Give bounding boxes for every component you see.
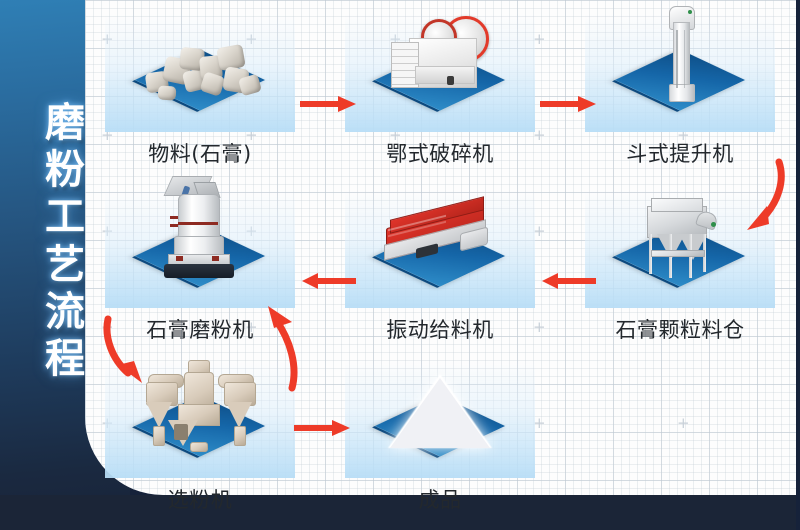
rock-pile-icon — [105, 14, 295, 132]
banner-char-6: 程 — [45, 336, 85, 383]
jaw-crusher-icon — [345, 14, 535, 132]
bucket-elevator-icon — [585, 14, 775, 132]
arrow-powder-classifier-to-finished-product — [292, 412, 354, 444]
grid-cross-mark: + — [677, 416, 690, 431]
flow-diagram-stage: 磨 粉 工 艺 流 程 + + + + + + + + + + + + + + … — [0, 0, 800, 530]
flow-node-label: 物料(石膏) — [105, 138, 295, 168]
flow-node-label: 石膏颗粒料仓 — [585, 314, 775, 344]
flow-node-jaw-crusher[interactable]: 鄂式破碎机 — [345, 14, 535, 168]
arrow-gypsum-silo-to-vibrating-feeder — [538, 265, 600, 297]
flow-node-raw-material[interactable]: 物料(石膏) — [105, 14, 295, 168]
flow-node-bucket-elevator[interactable]: 斗式提升机 — [585, 14, 775, 168]
flow-node-label: 鄂式破碎机 — [345, 138, 535, 168]
grinding-mill-icon — [105, 190, 295, 308]
flow-node-label: 选粉机 — [105, 484, 295, 514]
banner-char-5: 流 — [45, 289, 85, 336]
arrow-jaw-crusher-to-bucket-elevator — [538, 88, 600, 120]
arrow-powder-classifier-to-gypsum-mill — [262, 302, 314, 392]
arrow-vibrating-feeder-to-gypsum-mill — [298, 265, 360, 297]
powder-heap-icon — [345, 360, 535, 478]
right-edge-strip — [796, 0, 800, 530]
banner-char-4: 艺 — [45, 242, 85, 289]
arrow-bucket-elevator-to-gypsum-silo — [735, 158, 795, 238]
flow-node-label: 振动给料机 — [345, 314, 535, 344]
arrow-gypsum-mill-to-powder-classifier — [98, 315, 158, 393]
banner-char-3: 工 — [45, 194, 85, 241]
flow-node-finished-product[interactable]: 成品 — [345, 360, 535, 514]
banner-char-2: 粉 — [45, 147, 85, 194]
banner-char-1: 磨 — [45, 100, 85, 147]
arrow-raw-material-to-jaw-crusher — [298, 88, 360, 120]
flow-node-vibrating-feeder[interactable]: 振动给料机 — [345, 190, 535, 344]
vibrating-feeder-icon — [345, 190, 535, 308]
flow-node-label: 成品 — [345, 484, 535, 514]
